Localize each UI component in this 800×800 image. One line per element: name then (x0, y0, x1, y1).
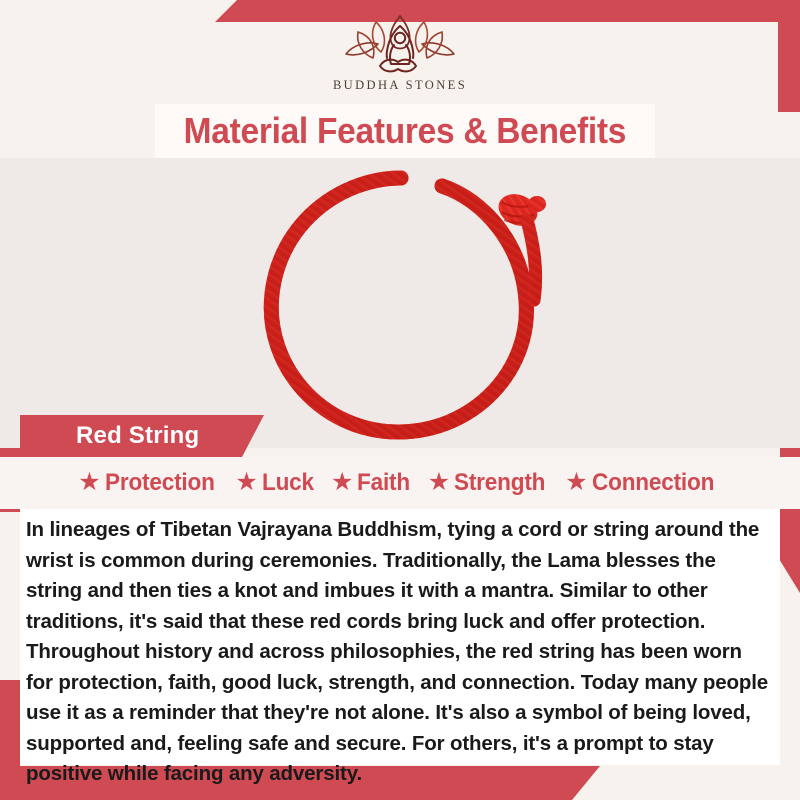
benefits-row: ★ Protection ★ Luck ★ Faith ★ Strength ★… (0, 457, 800, 509)
red-braided-string-bracelet-icon (246, 160, 556, 448)
benefit-item-luck: ★ Luck (235, 469, 317, 497)
benefit-label: Faith (357, 469, 410, 497)
product-image-stage (0, 158, 800, 448)
benefit-item-connection: ★ Connection (565, 469, 721, 497)
star-icon: ★ (331, 470, 353, 495)
benefit-label: Protection (105, 469, 215, 497)
star-icon: ★ (235, 470, 257, 495)
product-name-ribbon: Red String (20, 415, 264, 457)
brand-wordmark: BUDDHA STONES (333, 78, 467, 93)
star-icon: ★ (428, 470, 450, 495)
poster-canvas: BUDDHA STONES Material Features & Benefi… (0, 0, 800, 800)
description-text: In lineages of Tibetan Vajrayana Buddhis… (26, 515, 774, 790)
lotus-meditation-icon (340, 14, 460, 76)
benefit-item-faith: ★ Faith (331, 469, 414, 497)
benefit-label: Luck (262, 469, 314, 497)
benefit-label: Connection (592, 469, 714, 497)
brand-header: BUDDHA STONES (0, 0, 800, 108)
description-panel: In lineages of Tibetan Vajrayana Buddhis… (20, 509, 780, 765)
star-icon: ★ (78, 470, 100, 495)
benefit-item-strength: ★ Strength (428, 469, 551, 497)
star-icon: ★ (565, 470, 587, 495)
product-name-label: Red String (20, 422, 199, 450)
title-band: Material Features & Benefits (155, 104, 655, 158)
page-title: Material Features & Benefits (184, 110, 626, 152)
benefit-label: Strength (454, 469, 545, 497)
benefit-item-protection: ★ Protection (78, 469, 221, 497)
